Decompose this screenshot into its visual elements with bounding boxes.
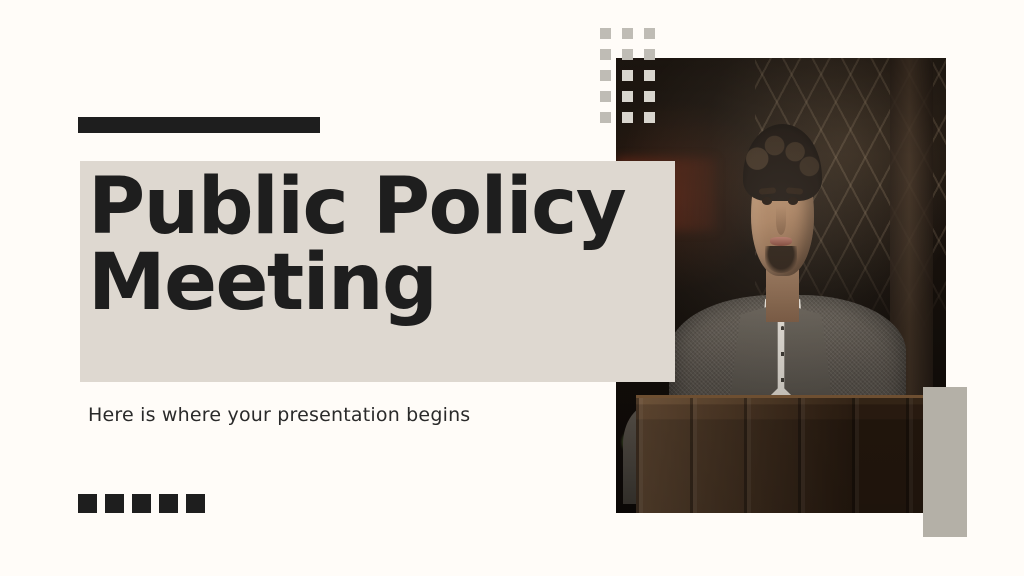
grid-dot xyxy=(622,28,633,39)
grey-accent-block xyxy=(923,387,967,537)
grid-dot xyxy=(600,112,611,123)
dash-square xyxy=(78,494,97,513)
grid-dot xyxy=(622,70,633,81)
subtitle-text: Here is where your presentation begins xyxy=(88,404,470,426)
grid-dot xyxy=(644,112,655,123)
grid-dot xyxy=(622,112,633,123)
grid-dot xyxy=(644,49,655,60)
grid-dot xyxy=(644,91,655,102)
grid-dot xyxy=(622,91,633,102)
grid-dot xyxy=(600,28,611,39)
page-title: Public Policy Meeting xyxy=(88,169,688,322)
dot-grid-decoration xyxy=(600,28,655,123)
dash-square xyxy=(186,494,205,513)
title-rule xyxy=(78,117,320,133)
grid-dot xyxy=(644,28,655,39)
square-dash-decoration xyxy=(78,494,205,513)
grid-dot xyxy=(600,70,611,81)
grid-dot xyxy=(600,49,611,60)
dash-square xyxy=(105,494,124,513)
dash-square xyxy=(159,494,178,513)
grid-dot xyxy=(622,49,633,60)
grid-dot xyxy=(644,70,655,81)
grid-dot xyxy=(600,91,611,102)
dash-square xyxy=(132,494,151,513)
